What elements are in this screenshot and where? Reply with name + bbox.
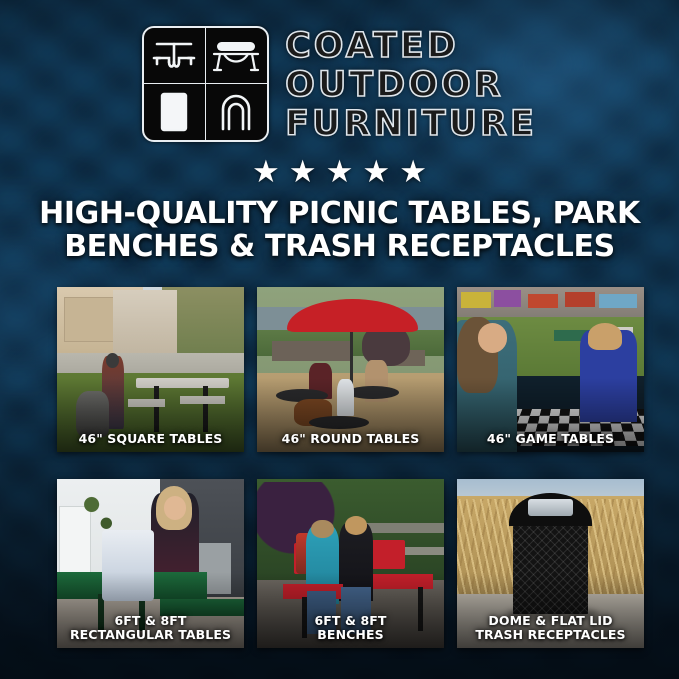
tile-caption: 6FT & 8FT BENCHES [261, 614, 440, 642]
tile-caption: 46" GAME TABLES [461, 432, 640, 446]
star-icon: ★ [289, 156, 317, 187]
product-tile-rectangular-tables[interactable]: 6FT & 8FT RECTANGULAR TABLES [57, 479, 244, 648]
tile-caption-line-1: 46" SQUARE TABLES [61, 432, 240, 446]
star-icon: ★ [326, 156, 354, 187]
star-rating: ★ ★ ★ ★ ★ [0, 156, 679, 187]
product-photo-game-tables [457, 287, 644, 452]
star-icon: ★ [399, 156, 427, 187]
product-tile-trash-receptacles[interactable]: DOME & FLAT LID TRASH RECEPTACLES [457, 479, 644, 648]
logo-icon-grid [142, 26, 269, 142]
headline-line-2: BENCHES & TRASH RECEPTACLES [28, 230, 651, 263]
tile-caption-line-2: TRASH RECEPTACLES [461, 628, 640, 642]
product-tile-grid: 46" SQUARE TABLES [57, 287, 623, 648]
tile-caption-line-1: DOME & FLAT LID [461, 614, 640, 628]
star-icon: ★ [252, 156, 280, 187]
product-photo-round-tables [257, 287, 444, 452]
headline: HIGH-QUALITY PICNIC TABLES, PARK BENCHES… [28, 197, 651, 263]
product-tile-square-tables[interactable]: 46" SQUARE TABLES [57, 287, 244, 452]
tile-caption-line-2: BENCHES [261, 628, 440, 642]
trash-receptacle-icon [144, 84, 206, 140]
tile-caption: DOME & FLAT LID TRASH RECEPTACLES [461, 614, 640, 642]
poster-content: COATED OUTDOOR FURNITURE ★ ★ ★ ★ ★ HIGH-… [0, 0, 679, 679]
product-tile-round-tables[interactable]: 46" ROUND TABLES [257, 287, 444, 452]
tile-caption-line-1: 46" GAME TABLES [461, 432, 640, 446]
bench-icon [206, 28, 268, 84]
tile-caption-line-1: 6FT & 8FT [261, 614, 440, 628]
headline-line-1: HIGH-QUALITY PICNIC TABLES, PARK [28, 197, 651, 230]
bike-rack-icon [206, 84, 268, 140]
poster-canvas: COATED OUTDOOR FURNITURE ★ ★ ★ ★ ★ HIGH-… [0, 0, 679, 679]
brand-name-line-2: OUTDOOR [285, 66, 504, 105]
product-tile-game-tables[interactable]: 46" GAME TABLES [457, 287, 644, 452]
star-icon: ★ [362, 156, 390, 187]
brand-name-line-3: FURNITURE [285, 105, 537, 144]
tile-caption-line-1: 46" ROUND TABLES [261, 432, 440, 446]
tile-caption: 46" SQUARE TABLES [61, 432, 240, 446]
tile-caption: 46" ROUND TABLES [261, 432, 440, 446]
tile-caption-line-1: 6FT & 8FT [61, 614, 240, 628]
product-photo-square-tables [57, 287, 244, 452]
tile-caption-line-2: RECTANGULAR TABLES [61, 628, 240, 642]
product-tile-benches[interactable]: 6FT & 8FT BENCHES [257, 479, 444, 648]
brand-logo: COATED OUTDOOR FURNITURE [0, 26, 679, 144]
tile-caption: 6FT & 8FT RECTANGULAR TABLES [61, 614, 240, 642]
picnic-table-icon [144, 28, 206, 84]
brand-name-line-1: COATED [285, 27, 459, 66]
brand-wordmark: COATED OUTDOOR FURNITURE [285, 26, 537, 144]
